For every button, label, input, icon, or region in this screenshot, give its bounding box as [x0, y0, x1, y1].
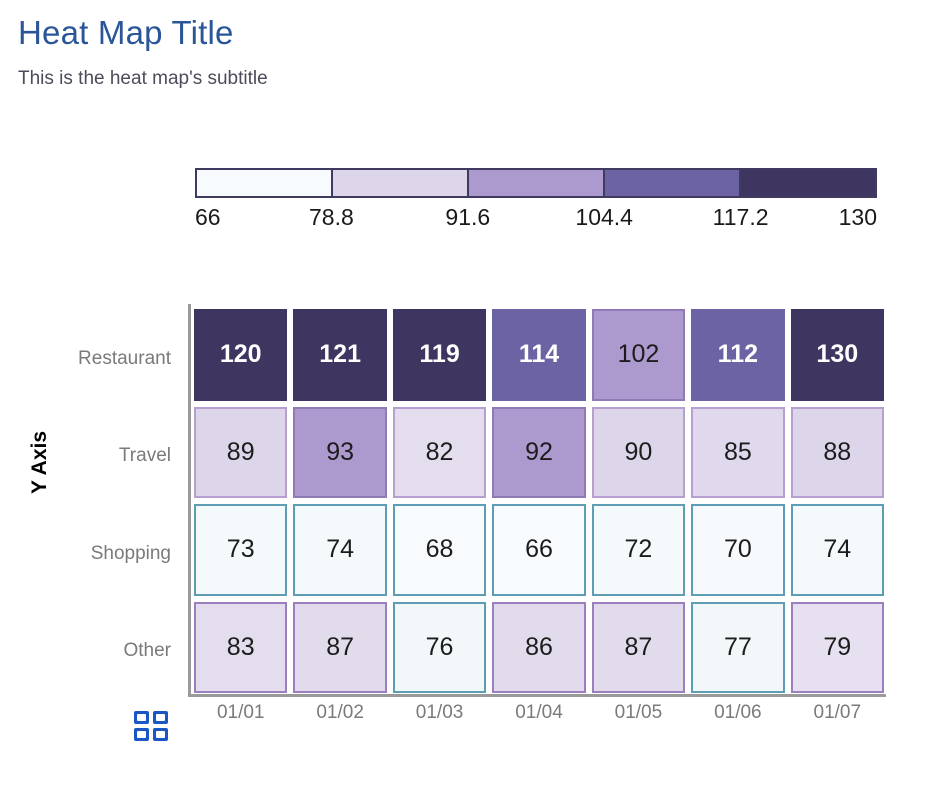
heatmap-cell[interactable]: 74 — [791, 504, 884, 596]
legend-tick-label: 91.6 — [445, 204, 490, 231]
heatmap-cell[interactable]: 66 — [492, 504, 585, 596]
color-legend: 6678.891.6104.4117.2130 — [195, 168, 877, 238]
legend-band-5 — [740, 168, 877, 198]
legend-color-bar — [195, 168, 877, 198]
heatmap-cell[interactable]: 79 — [791, 602, 884, 694]
heatmap-cell[interactable]: 102 — [592, 309, 685, 401]
heatmap-cell[interactable]: 112 — [691, 309, 784, 401]
heatmap-cell[interactable]: 119 — [393, 309, 486, 401]
y-axis-tick-label: Restaurant — [40, 310, 180, 408]
x-axis-tick-labels: 01/0101/0201/0301/0401/0501/0601/07 — [191, 702, 887, 724]
heatmap-cell[interactable]: 83 — [194, 602, 287, 694]
legend-band-4 — [604, 168, 740, 198]
legend-band-2 — [332, 168, 468, 198]
legend-tick-label: 104.4 — [575, 204, 633, 231]
heatmap-cell[interactable]: 121 — [293, 309, 386, 401]
heatmap-cell[interactable]: 120 — [194, 309, 287, 401]
legend-tick-labels: 6678.891.6104.4117.2130 — [195, 204, 877, 238]
heatmap-cell[interactable]: 114 — [492, 309, 585, 401]
heatmap-cell[interactable]: 72 — [592, 504, 685, 596]
heatmap-cell[interactable]: 90 — [592, 407, 685, 499]
y-axis-tick-labels: RestaurantTravelShoppingOther — [40, 310, 180, 700]
heatmap-cell[interactable]: 76 — [393, 602, 486, 694]
grid-icon-square-1 — [134, 711, 149, 724]
grid-view-icon[interactable] — [134, 711, 168, 741]
y-axis-tick-label: Shopping — [40, 505, 180, 603]
legend-band-3 — [468, 168, 604, 198]
heatmap-cell[interactable]: 89 — [194, 407, 287, 499]
heatmap-cell[interactable]: 92 — [492, 407, 585, 499]
heatmap-cell[interactable]: 86 — [492, 602, 585, 694]
y-axis-tick-label: Travel — [40, 408, 180, 506]
grid-icon-square-2 — [153, 711, 168, 724]
grid-icon-square-4 — [153, 728, 168, 741]
heatmap-cell[interactable]: 70 — [691, 504, 784, 596]
x-axis-tick-label: 01/03 — [390, 702, 489, 724]
legend-tick-label: 78.8 — [309, 204, 354, 231]
x-axis-tick-label: 01/06 — [688, 702, 787, 724]
heatmap-cell[interactable]: 68 — [393, 504, 486, 596]
legend-tick-label: 66 — [195, 204, 221, 231]
heatmap-cell[interactable]: 74 — [293, 504, 386, 596]
legend-tick-label: 117.2 — [713, 204, 769, 231]
heatmap-cell[interactable]: 93 — [293, 407, 386, 499]
heatmap-grid: 1201211191141021121308993829290858873746… — [191, 306, 887, 696]
chart-header: Heat Map Title This is the heat map's su… — [0, 0, 942, 91]
heatmap-cell[interactable]: 85 — [691, 407, 784, 499]
heatmap-cell[interactable]: 130 — [791, 309, 884, 401]
heatmap-cell[interactable]: 87 — [293, 602, 386, 694]
heatmap-cell[interactable]: 73 — [194, 504, 287, 596]
x-axis-tick-label: 01/02 — [290, 702, 389, 724]
heatmap-plot: Y Axis RestaurantTravelShoppingOther 120… — [0, 296, 942, 716]
page-title: Heat Map Title — [18, 14, 942, 52]
x-axis-tick-label: 01/07 — [788, 702, 887, 724]
legend-tick-label: 130 — [839, 204, 877, 231]
grid-icon-square-3 — [134, 728, 149, 741]
x-axis-tick-label: 01/05 — [589, 702, 688, 724]
x-axis-tick-label: 01/01 — [191, 702, 290, 724]
legend-band-1 — [195, 168, 332, 198]
y-axis-tick-label: Other — [40, 603, 180, 701]
heatmap-cell[interactable]: 82 — [393, 407, 486, 499]
page-subtitle: This is the heat map's subtitle — [18, 68, 942, 91]
heatmap-cell[interactable]: 77 — [691, 602, 784, 694]
heatmap-cell[interactable]: 87 — [592, 602, 685, 694]
heatmap-cell[interactable]: 88 — [791, 407, 884, 499]
x-axis-tick-label: 01/04 — [489, 702, 588, 724]
